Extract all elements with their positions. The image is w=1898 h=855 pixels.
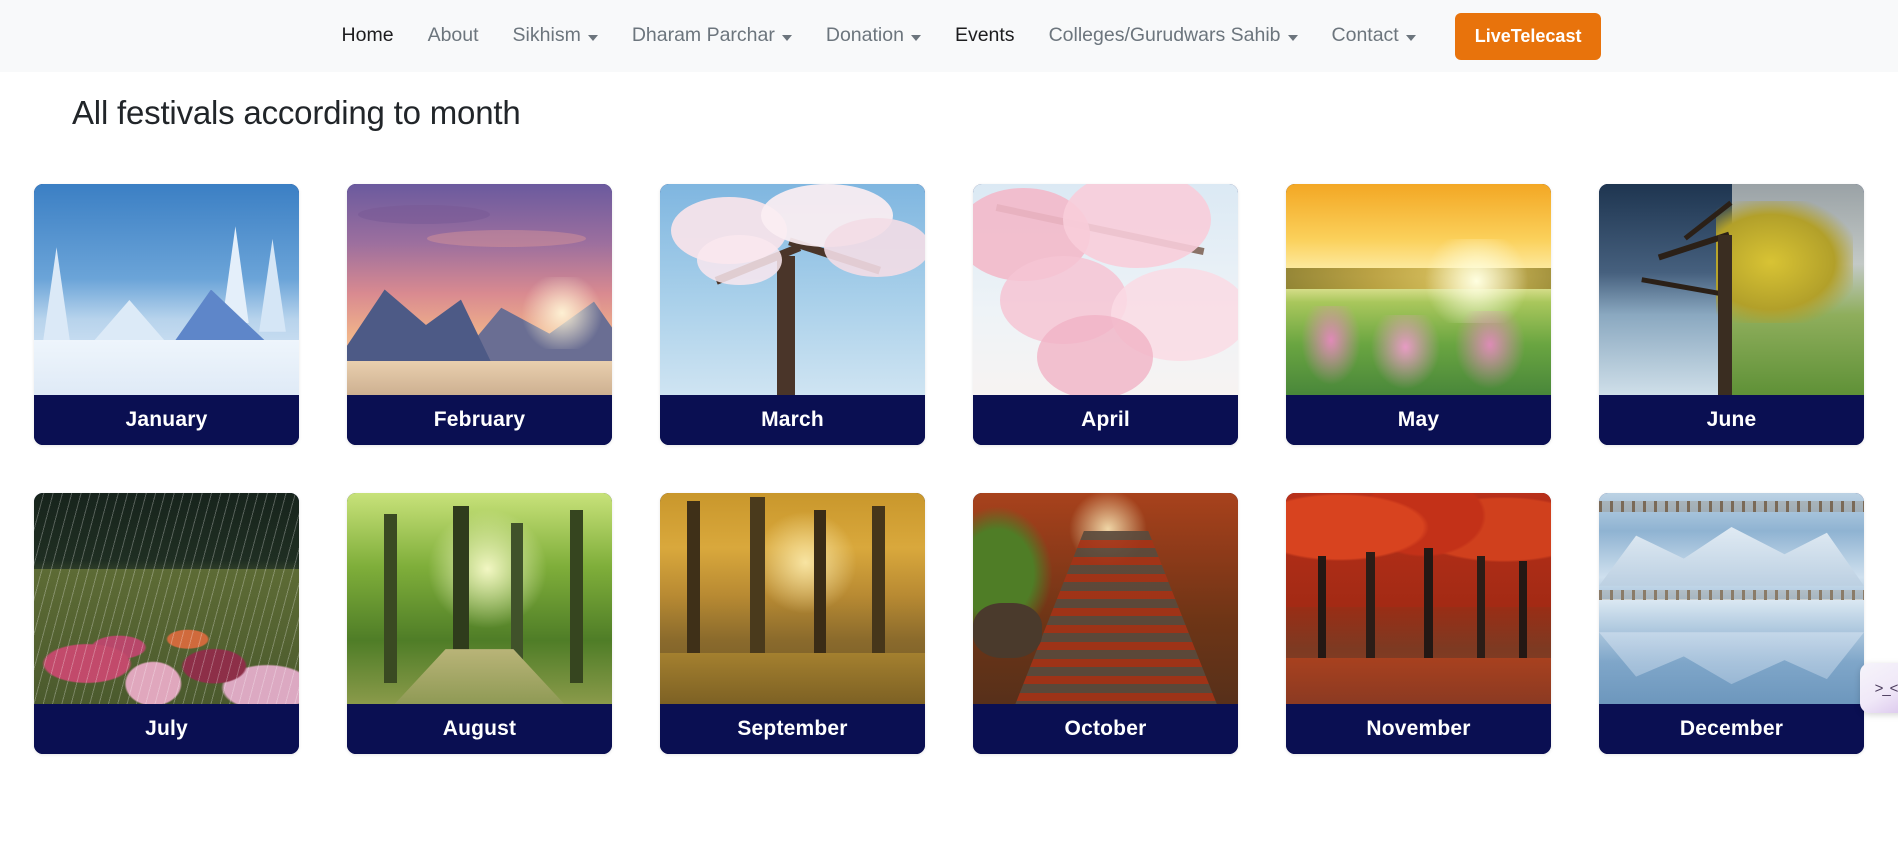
month-image-november (1286, 493, 1551, 704)
month-image-march (660, 184, 925, 395)
nav-item-label: Sikhism (513, 26, 581, 46)
month-image-october (973, 493, 1238, 704)
page-title: All festivals according to month (72, 94, 1898, 132)
chevron-down-icon (782, 35, 792, 41)
month-label: March (660, 395, 925, 445)
nav-item-label: Home (342, 26, 394, 46)
chevron-down-icon (911, 35, 921, 41)
nav-item-label: Contact (1332, 26, 1399, 46)
month-card-grid: January February March (0, 184, 1898, 754)
month-label: January (34, 395, 299, 445)
month-card-october[interactable]: October (973, 493, 1238, 754)
month-image-september (660, 493, 925, 704)
month-card-june[interactable]: June (1599, 184, 1864, 445)
nav-item-about[interactable]: About (411, 26, 496, 46)
month-card-may[interactable]: May (1286, 184, 1551, 445)
nav-list: Home About Sikhism Dharam Parchar Donati… (325, 13, 1602, 60)
month-label: May (1286, 395, 1551, 445)
nav-item-label: Colleges/Gurudwars Sahib (1049, 26, 1281, 46)
kaomoji-face-icon: >_< (1875, 680, 1898, 697)
month-label: February (347, 395, 612, 445)
month-card-april[interactable]: April (973, 184, 1238, 445)
month-label: November (1286, 704, 1551, 754)
live-telecast-button-wrapper: LiveTelecast (1433, 13, 1602, 60)
floating-chat-widget[interactable]: >_< (1860, 663, 1898, 713)
month-label: September (660, 704, 925, 754)
main-navbar: Home About Sikhism Dharam Parchar Donati… (0, 0, 1898, 72)
month-card-november[interactable]: November (1286, 493, 1551, 754)
nav-item-colleges-gurudwars-sahib[interactable]: Colleges/Gurudwars Sahib (1032, 26, 1315, 46)
month-label: December (1599, 704, 1864, 754)
month-image-july (34, 493, 299, 704)
nav-item-label: Donation (826, 26, 904, 46)
nav-item-dharam-parchar[interactable]: Dharam Parchar (615, 26, 809, 46)
month-label: June (1599, 395, 1864, 445)
chevron-down-icon (588, 35, 598, 41)
month-image-december (1599, 493, 1864, 704)
chevron-down-icon (1288, 35, 1298, 41)
nav-item-contact[interactable]: Contact (1315, 26, 1433, 46)
month-image-january (34, 184, 299, 395)
nav-item-events[interactable]: Events (938, 26, 1032, 46)
month-image-august (347, 493, 612, 704)
month-card-july[interactable]: July (34, 493, 299, 754)
month-card-february[interactable]: February (347, 184, 612, 445)
month-card-august[interactable]: August (347, 493, 612, 754)
month-label: October (973, 704, 1238, 754)
nav-item-donation[interactable]: Donation (809, 26, 938, 46)
month-image-june (1599, 184, 1864, 395)
month-label: August (347, 704, 612, 754)
month-image-may (1286, 184, 1551, 395)
nav-item-label: Events (955, 26, 1015, 46)
nav-item-label: About (428, 26, 479, 46)
month-card-march[interactable]: March (660, 184, 925, 445)
live-telecast-button[interactable]: LiveTelecast (1455, 13, 1602, 60)
nav-item-sikhism[interactable]: Sikhism (496, 26, 615, 46)
month-image-february (347, 184, 612, 395)
month-card-december[interactable]: December (1599, 493, 1864, 754)
nav-item-home[interactable]: Home (325, 26, 411, 46)
month-card-september[interactable]: September (660, 493, 925, 754)
month-image-april (973, 184, 1238, 395)
month-label: April (973, 395, 1238, 445)
month-label: July (34, 704, 299, 754)
nav-item-label: Dharam Parchar (632, 26, 775, 46)
month-card-january[interactable]: January (34, 184, 299, 445)
chevron-down-icon (1406, 35, 1416, 41)
